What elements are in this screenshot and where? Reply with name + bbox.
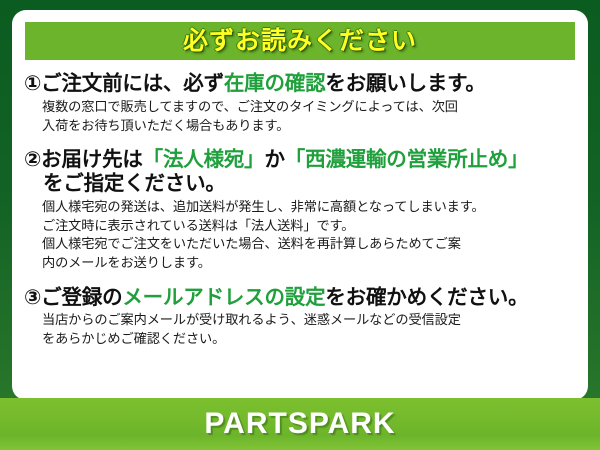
header-band: 必ずお読みください [25, 22, 575, 60]
notice-item-3-heading-post: をお確かめください。 [325, 286, 528, 309]
notice-item-2-heading-line2: をご指定ください。 [24, 172, 578, 196]
notice-item-1-heading: ①ご注文前には、必ず在庫の確認をお願いします。 [24, 72, 578, 96]
notice-item-3: ③ご登録のメールアドレスの設定をお確かめください。 当店からのご案内メールが受け… [12, 286, 588, 349]
notice-item-3-heading-pre: ご登録の [41, 286, 122, 309]
notice-item-2-heading-pre: お届け先は [41, 148, 143, 171]
notice-item-2-heading-mid: か [264, 148, 284, 171]
brand-logo: PARTSPARK [204, 409, 395, 439]
notice-item-2-body: 個人様宅宛の発送は、追加送料が発生し、非常に高額となってしまいます。 ご注文時に… [24, 198, 578, 273]
notice-item-3-body: 当店からのご案内メールが受け取れるよう、迷惑メールなどの受信設定 をあらかじめご… [24, 311, 578, 348]
page-title: 必ずお読みください [183, 29, 417, 54]
notice-item-2: ②お届け先は「法人様宛」か「西濃運輸の営業所止め」 をご指定ください。 個人様宅… [12, 148, 588, 272]
notice-item-1-heading-post: をお願いします。 [325, 72, 485, 95]
notice-content: ①ご注文前には、必ず在庫の確認をお願いします。 複数の窓口で販売してますので、ご… [12, 68, 588, 349]
notice-item-1: ①ご注文前には、必ず在庫の確認をお願いします。 複数の窓口で販売してますので、ご… [12, 72, 588, 135]
notice-banner: 必ずお読みください ①ご注文前には、必ず在庫の確認をお願いします。 複数の窓口で… [0, 0, 600, 450]
notice-item-3-number: ③ [24, 286, 41, 309]
notice-item-2-number: ② [24, 148, 41, 171]
notice-item-1-heading-pre: ご注文前には、必ず [41, 72, 224, 95]
notice-item-2-heading: ②お届け先は「法人様宛」か「西濃運輸の営業所止め」 [24, 148, 578, 172]
notice-item-1-body: 複数の窓口で販売してますので、ご注文のタイミングによっては、次回 入荷をお待ち頂… [24, 98, 578, 135]
notice-item-3-heading-highlight: メールアドレスの設定 [122, 286, 325, 309]
notice-item-1-heading-highlight: 在庫の確認 [224, 72, 326, 95]
notice-item-1-number: ① [24, 72, 41, 95]
notice-item-2-heading-highlight: 「法人様宛」 [143, 148, 265, 171]
notice-panel: 必ずお読みください ①ご注文前には、必ず在庫の確認をお願いします。 複数の窓口で… [12, 10, 588, 400]
notice-item-3-heading: ③ご登録のメールアドレスの設定をお確かめください。 [24, 286, 578, 310]
notice-item-2-heading-highlight-2: 「西濃運輸の営業所止め」 [285, 148, 529, 171]
footer-bar: PARTSPARK [0, 398, 600, 450]
